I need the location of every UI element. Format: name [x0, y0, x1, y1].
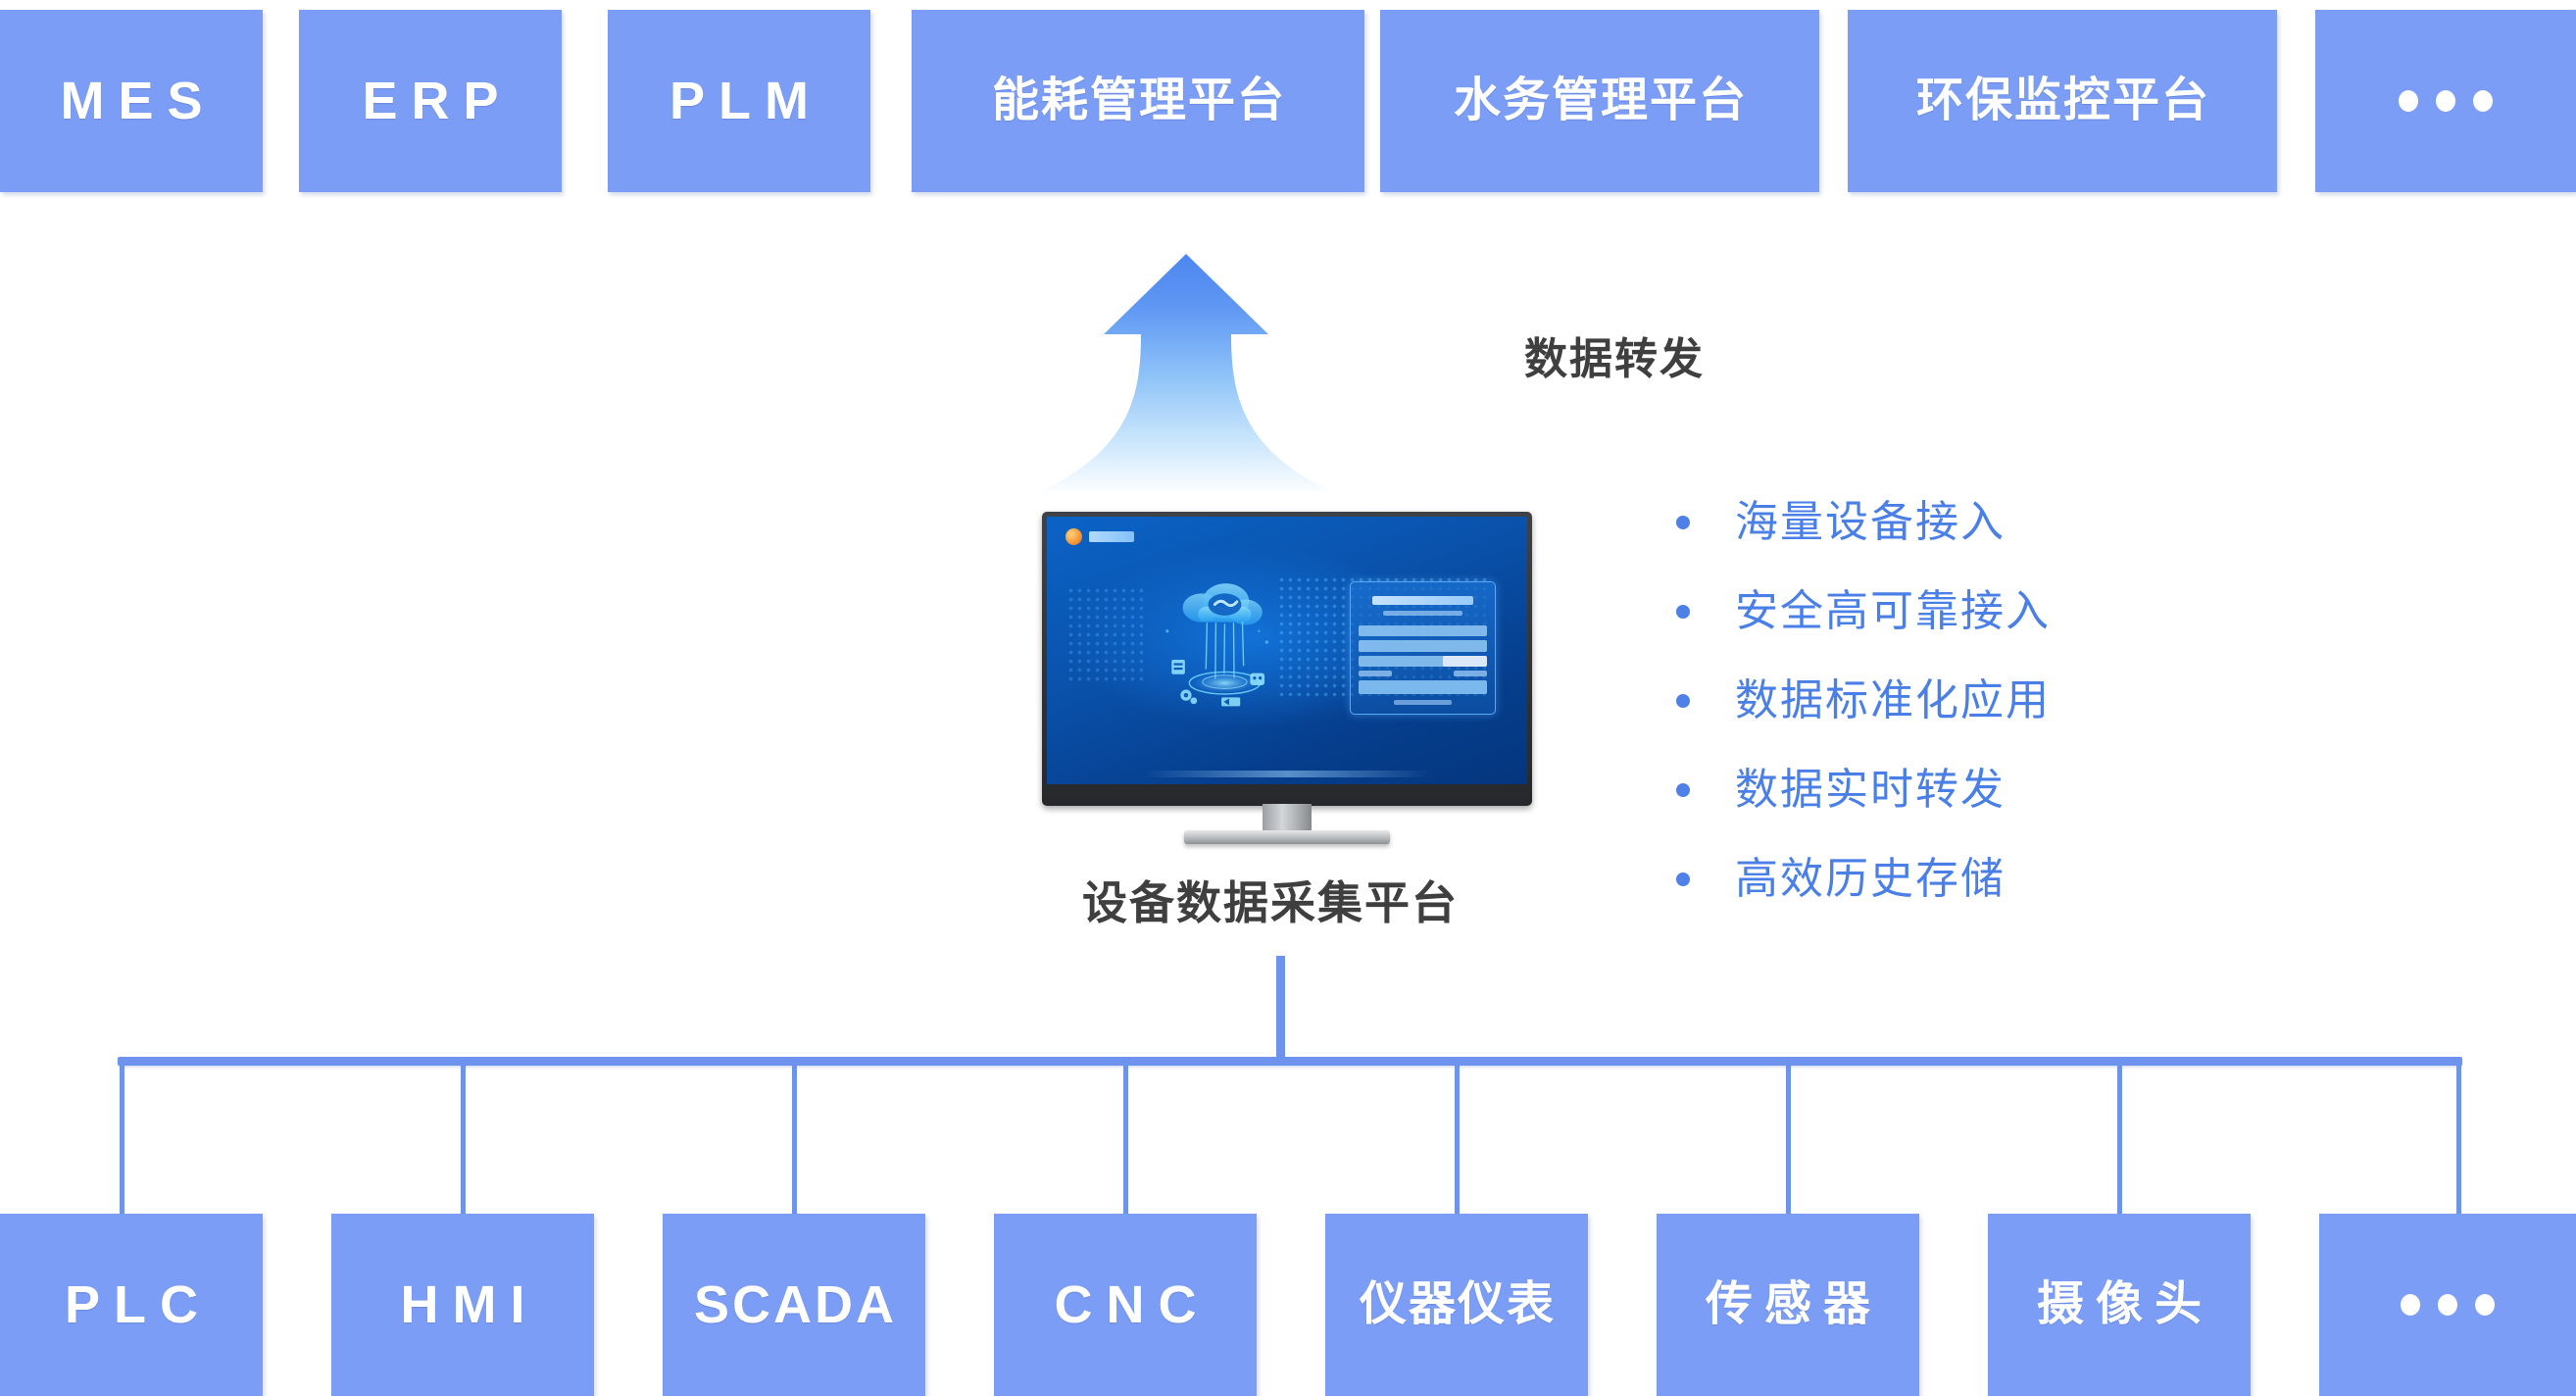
node-label: 水务管理平台 [1452, 77, 1748, 125]
device-drop-line-5 [1786, 1063, 1791, 1214]
feature-list: 海量设备接入安全高可靠接入数据标准化应用数据实时转发高效历史存储 [1676, 477, 2284, 923]
bullet-icon [1676, 872, 1690, 886]
remember-password-checkbox[interactable] [1359, 671, 1392, 676]
node-label: 能耗管理平台 [990, 77, 1286, 125]
device-drop-line-4 [1455, 1063, 1460, 1214]
node-label: 传感器 [1694, 1281, 1882, 1328]
feature-item-0: 海量设备接入 [1676, 477, 2284, 567]
node-label: 摄像头 [2025, 1281, 2213, 1328]
password-field[interactable] [1359, 640, 1487, 652]
monitor-stand-neck [1263, 804, 1312, 833]
device-drop-line-7 [2456, 1063, 2461, 1214]
bottom-node-6[interactable]: 摄像头 [1988, 1214, 2251, 1396]
top-node-4[interactable]: 水务管理平台 [1380, 10, 1819, 192]
collection-platform-monitor [1042, 512, 1532, 823]
data-forward-label: 数据转发 [1524, 324, 1705, 386]
screen-login-panel[interactable] [1350, 581, 1496, 716]
feature-label: 高效历史存储 [1735, 858, 2006, 901]
screen-logo [1065, 528, 1134, 545]
login-footer-text [1394, 700, 1452, 705]
feature-label: 安全高可靠接入 [1735, 590, 2051, 633]
monitor-bezel [1042, 512, 1532, 806]
top-node-5[interactable]: 环保监控平台 [1848, 10, 2277, 192]
device-drop-line-2 [792, 1063, 797, 1214]
captcha-image[interactable] [1443, 656, 1487, 668]
feature-item-2: 数据标准化应用 [1676, 656, 2284, 745]
device-drop-line-0 [120, 1063, 124, 1214]
node-label: PLM [656, 75, 822, 127]
login-subtitle [1383, 611, 1462, 616]
top-node-1[interactable]: ERP [299, 10, 562, 192]
platform-to-bus-stem [1276, 956, 1285, 1066]
node-label: CNC [1041, 1278, 1211, 1331]
bullet-icon [1676, 605, 1690, 619]
forgot-password-link[interactable] [1454, 671, 1487, 676]
device-drop-line-1 [461, 1063, 466, 1214]
bottom-node-2[interactable]: SCADA [663, 1214, 925, 1396]
bottom-node-3[interactable]: CNC [994, 1214, 1257, 1396]
feature-item-1: 安全高可靠接入 [1676, 567, 2284, 656]
captcha-field[interactable] [1359, 656, 1487, 668]
bullet-icon [1676, 516, 1690, 529]
feature-label: 数据实时转发 [1735, 769, 2006, 812]
data-forward-arrow-icon [1029, 250, 1343, 505]
device-bus-line [118, 1057, 2462, 1066]
login-submit-button[interactable] [1359, 680, 1487, 694]
feature-label: 数据标准化应用 [1735, 679, 2051, 723]
feature-item-4: 高效历史存储 [1676, 834, 2284, 923]
monitor-stand-base [1184, 830, 1390, 844]
bullet-icon [1676, 694, 1690, 708]
node-label: MES [46, 75, 216, 127]
top-node-3[interactable]: 能耗管理平台 [912, 10, 1364, 192]
bottom-node-7[interactable] [2319, 1214, 2576, 1396]
node-label: ERP [348, 75, 512, 127]
ellipsis-icon [2401, 1294, 2495, 1316]
bullet-icon [1676, 783, 1690, 797]
screen-footer-strip [1143, 771, 1431, 777]
bottom-node-4[interactable]: 仪器仪表 [1325, 1214, 1588, 1396]
bottom-node-0[interactable]: PLC [0, 1214, 263, 1396]
ellipsis-icon [2399, 90, 2493, 112]
top-node-0[interactable]: MES [0, 10, 263, 192]
monitor-screen [1047, 517, 1527, 784]
node-label: PLC [51, 1278, 212, 1331]
login-options-row[interactable] [1359, 671, 1487, 676]
cloud-data-illustration-icon [1123, 565, 1311, 730]
diagram-canvas: MESERPPLM能耗管理平台水务管理平台环保监控平台 数据转发 海量设备接入安… [0, 0, 2576, 1396]
node-label: 仪器仪表 [1358, 1281, 1556, 1328]
node-label: HMI [387, 1278, 539, 1331]
platform-caption: 设备数据采集平台 [1082, 868, 1459, 932]
device-drop-line-6 [2117, 1063, 2122, 1214]
bottom-node-1[interactable]: HMI [331, 1214, 594, 1396]
bottom-node-5[interactable]: 传感器 [1657, 1214, 1919, 1396]
logo-mark-icon [1065, 528, 1082, 545]
node-label: 环保监控平台 [1914, 77, 2210, 125]
top-node-2[interactable]: PLM [608, 10, 870, 192]
logo-wordmark [1089, 531, 1134, 542]
node-label: SCADA [691, 1278, 897, 1331]
feature-item-3: 数据实时转发 [1676, 745, 2284, 834]
device-drop-line-3 [1123, 1063, 1128, 1214]
feature-label: 海量设备接入 [1735, 501, 2006, 544]
username-field[interactable] [1359, 625, 1487, 637]
login-title [1372, 596, 1473, 605]
top-node-6[interactable] [2315, 10, 2576, 192]
